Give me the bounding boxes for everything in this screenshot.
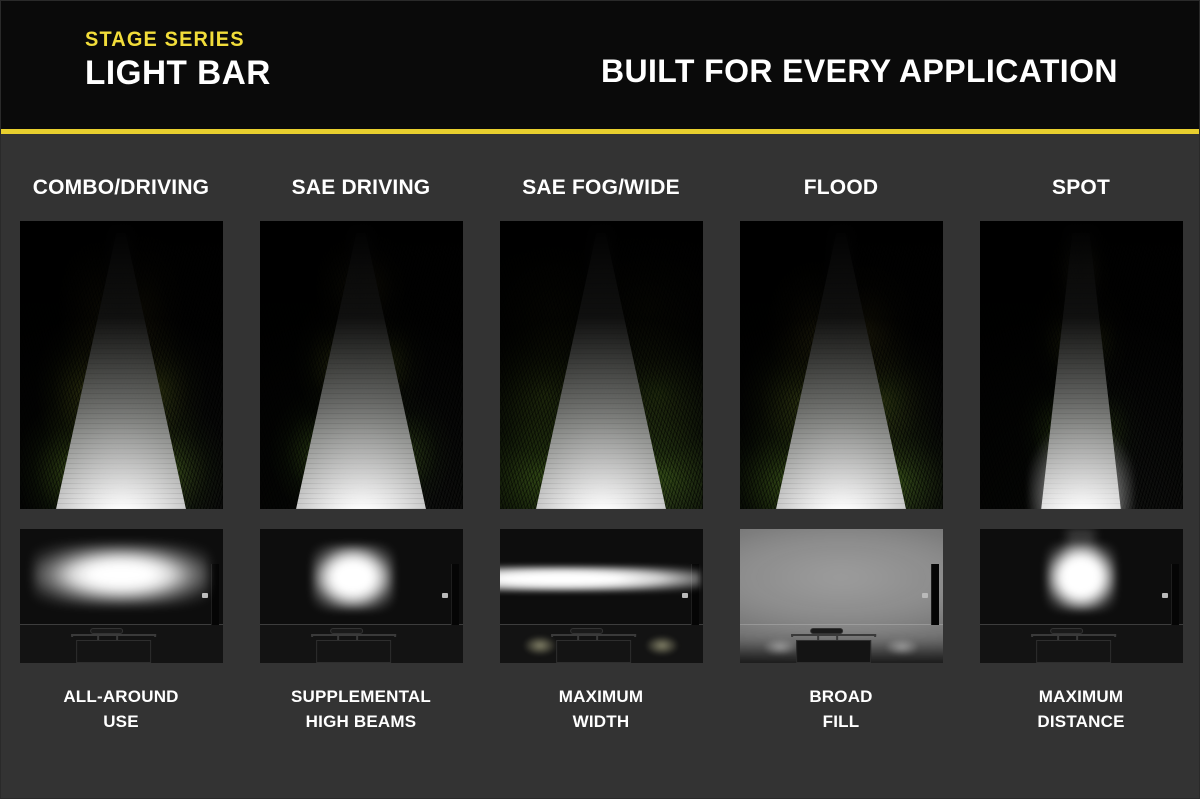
wall-photo-combo-driving [20, 529, 223, 663]
forest-road-scene [20, 221, 223, 509]
doorway [211, 564, 219, 626]
wall-scene [20, 529, 223, 663]
caption-line-2: WIDTH [573, 712, 630, 731]
column-flood: FLOOD [721, 134, 961, 799]
wall-scene [980, 529, 1183, 663]
column-caption: SUPPLEMENTAL HIGH BEAMS [291, 685, 431, 734]
brand-logo: STAGE SERIES LIGHT BAR [85, 29, 275, 90]
rig-body [316, 640, 391, 663]
column-title: COMBO/DRIVING [33, 176, 209, 200]
wall-scene [260, 529, 463, 663]
caption-line-2: FILL [823, 712, 860, 731]
light-bar-test-rig [542, 625, 660, 663]
wall-upper [500, 529, 703, 624]
column-spot: SPOT [961, 134, 1200, 799]
scene-vignette [740, 221, 943, 509]
rig-body [796, 640, 871, 663]
rig-frame [72, 634, 157, 638]
column-caption: BROAD FILL [809, 685, 872, 734]
road-photo-combo-driving [20, 221, 223, 509]
light-bar-test-rig [782, 625, 900, 663]
caption-line-1: ALL-AROUND [63, 687, 178, 706]
wall-outlet [202, 593, 208, 598]
forest-road-scene [500, 221, 703, 509]
road-photo-flood [740, 221, 943, 509]
column-caption: MAXIMUM DISTANCE [1037, 685, 1124, 734]
wall-outlet [1162, 593, 1168, 598]
wall-scene [500, 529, 703, 663]
rig-frame [312, 634, 397, 638]
road-photo-spot [980, 221, 1183, 509]
wall-photo-sae-fog-wide [500, 529, 703, 663]
brand-line-stage-series: STAGE SERIES [85, 29, 265, 50]
wall-upper [20, 529, 223, 624]
wall-upper [980, 529, 1183, 624]
caption-line-2: USE [103, 712, 139, 731]
scene-vignette [980, 221, 1183, 509]
beam-pattern-grid: COMBO/DRIVING [1, 134, 1200, 799]
caption-line-1: BROAD [809, 687, 872, 706]
column-title: SPOT [1052, 176, 1110, 200]
wall-upper [260, 529, 463, 624]
brand-line-light-bar: LIGHT BAR [85, 56, 271, 90]
column-caption: ALL-AROUND USE [63, 685, 178, 734]
rig-frame [552, 634, 637, 638]
page-headline: BUILT FOR EVERY APPLICATION [601, 53, 1118, 90]
doorway [691, 564, 699, 626]
forest-road-scene [980, 221, 1183, 509]
wall-outlet [442, 593, 448, 598]
road-photo-sae-fog-wide [500, 221, 703, 509]
caption-line-1: SUPPLEMENTAL [291, 687, 431, 706]
forest-road-scene [740, 221, 943, 509]
page-header: STAGE SERIES LIGHT BAR BUILT FOR EVERY A… [1, 1, 1200, 129]
caption-line-2: HIGH BEAMS [306, 712, 417, 731]
column-caption: MAXIMUM WIDTH [559, 685, 644, 734]
scene-vignette [20, 221, 223, 509]
wall-photo-flood [740, 529, 943, 663]
wall-photo-sae-driving [260, 529, 463, 663]
light-bar-test-rig [1022, 625, 1140, 663]
road-photo-sae-driving [260, 221, 463, 509]
rig-body [556, 640, 631, 663]
wall-outlet [922, 593, 928, 598]
wall-photo-spot [980, 529, 1183, 663]
caption-line-1: MAXIMUM [1039, 687, 1124, 706]
rig-body [76, 640, 151, 663]
light-bar-test-rig [62, 625, 180, 663]
caption-line-1: MAXIMUM [559, 687, 644, 706]
column-sae-fog-wide: SAE FOG/WIDE [481, 134, 721, 799]
doorway [451, 564, 459, 626]
caption-line-2: DISTANCE [1037, 712, 1124, 731]
wall-outlet [682, 593, 688, 598]
scene-vignette [500, 221, 703, 509]
rig-body [1036, 640, 1111, 663]
wall-upper [740, 529, 943, 624]
wall-scene [740, 529, 943, 663]
doorway [931, 564, 939, 626]
beam-pattern-comparison-page: STAGE SERIES LIGHT BAR BUILT FOR EVERY A… [0, 0, 1200, 799]
doorway [1171, 564, 1179, 626]
column-combo-driving: COMBO/DRIVING [1, 134, 241, 799]
column-title: SAE DRIVING [292, 176, 431, 200]
column-sae-driving: SAE DRIVING [241, 134, 481, 799]
column-title: SAE FOG/WIDE [522, 176, 680, 200]
scene-vignette [260, 221, 463, 509]
forest-road-scene [260, 221, 463, 509]
column-title: FLOOD [804, 176, 879, 200]
light-bar-test-rig [302, 625, 420, 663]
rig-frame [1032, 634, 1117, 638]
rig-frame [792, 634, 877, 638]
